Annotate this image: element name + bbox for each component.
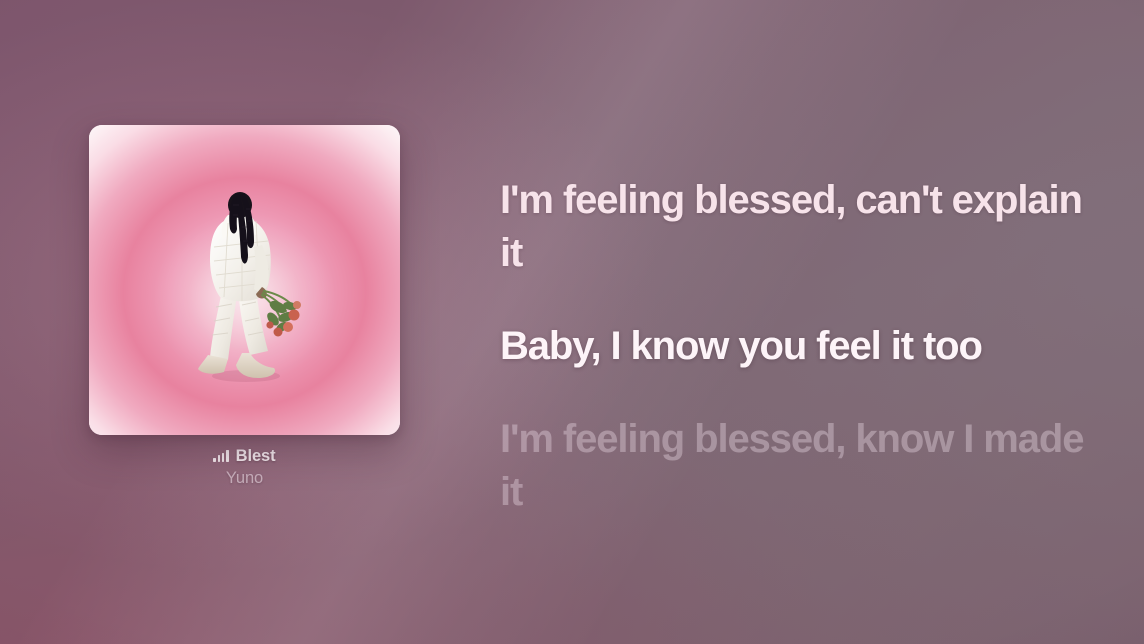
artwork-figure-illustration: [170, 175, 320, 385]
track-info: Blest Yuno: [89, 448, 400, 488]
lyric-line-past[interactable]: I'm feeling blessed, can't explain it: [500, 174, 1100, 280]
lyrics-view: Blest Yuno I'm feeling blessed, can't ex…: [0, 0, 1144, 644]
lyrics-panel[interactable]: I'm feeling blessed, can't explain it Ba…: [500, 174, 1100, 519]
album-artwork[interactable]: [89, 125, 400, 435]
now-playing-panel: Blest Yuno: [89, 125, 400, 488]
track-title-row: Blest: [213, 448, 275, 465]
now-playing-equalizer-icon: [213, 450, 228, 462]
track-title: Blest: [236, 448, 276, 465]
lyric-line-current[interactable]: Baby, I know you feel it too: [500, 320, 1100, 373]
track-artist: Yuno: [226, 469, 263, 488]
lyric-line-upcoming[interactable]: I'm feeling blessed, know I made it: [500, 413, 1100, 519]
